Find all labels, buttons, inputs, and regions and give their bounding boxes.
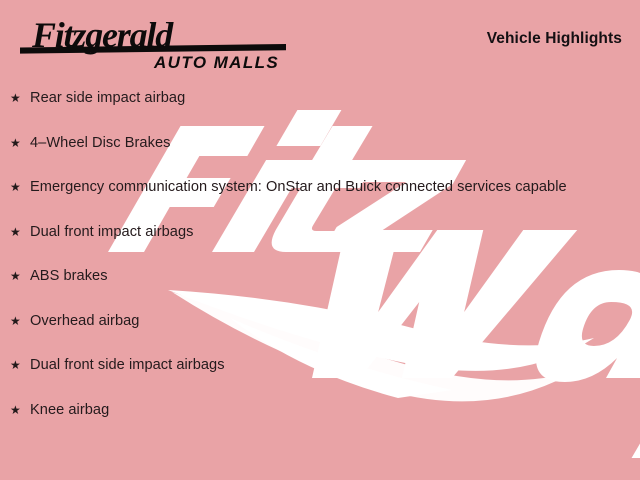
- star-bullet-icon: ★: [10, 177, 21, 198]
- list-item: ★ ABS brakes: [0, 266, 640, 287]
- list-item: ★ Overhead airbag: [0, 311, 640, 332]
- fitzgerald-auto-malls-logo: Fitzgerald AUTO MALLS: [14, 14, 304, 72]
- list-item-label: Dual front impact airbags: [30, 222, 624, 243]
- slide-header: Fitzgerald AUTO MALLS Vehicle Highlights: [0, 0, 640, 84]
- list-item-label: Overhead airbag: [30, 311, 624, 332]
- vehicle-highlights-list: ★ Rear side impact airbag ★ 4–Wheel Disc…: [0, 88, 640, 421]
- list-item-label: Knee airbag: [30, 400, 624, 421]
- list-item: ★ Knee airbag: [0, 400, 640, 421]
- list-item-label: Rear side impact airbag: [30, 88, 624, 109]
- list-item-label: Dual front side impact airbags: [30, 355, 624, 376]
- vehicle-highlights-slide: Fitzgerald AUTO MALLS Vehicle Highlights…: [0, 0, 640, 480]
- star-bullet-icon: ★: [10, 266, 21, 287]
- star-bullet-icon: ★: [10, 355, 21, 376]
- list-item-label: 4–Wheel Disc Brakes: [30, 133, 624, 154]
- svg-text:Fitzgerald: Fitzgerald: [31, 15, 174, 55]
- list-item: ★ Dual front impact airbags: [0, 222, 640, 243]
- star-bullet-icon: ★: [10, 400, 21, 421]
- list-item: ★ 4–Wheel Disc Brakes: [0, 133, 640, 154]
- list-item: ★ Rear side impact airbag: [0, 88, 640, 109]
- star-bullet-icon: ★: [10, 222, 21, 243]
- star-bullet-icon: ★: [10, 88, 21, 109]
- list-item: ★ Dual front side impact airbags: [0, 355, 640, 376]
- star-bullet-icon: ★: [10, 311, 21, 332]
- list-item-label: Emergency communication system: OnStar a…: [30, 177, 624, 198]
- list-item: ★ Emergency communication system: OnStar…: [0, 177, 640, 198]
- star-bullet-icon: ★: [10, 133, 21, 154]
- page-title: Vehicle Highlights: [487, 30, 622, 48]
- svg-text:AUTO MALLS: AUTO MALLS: [153, 53, 279, 72]
- list-item-label: ABS brakes: [30, 266, 624, 287]
